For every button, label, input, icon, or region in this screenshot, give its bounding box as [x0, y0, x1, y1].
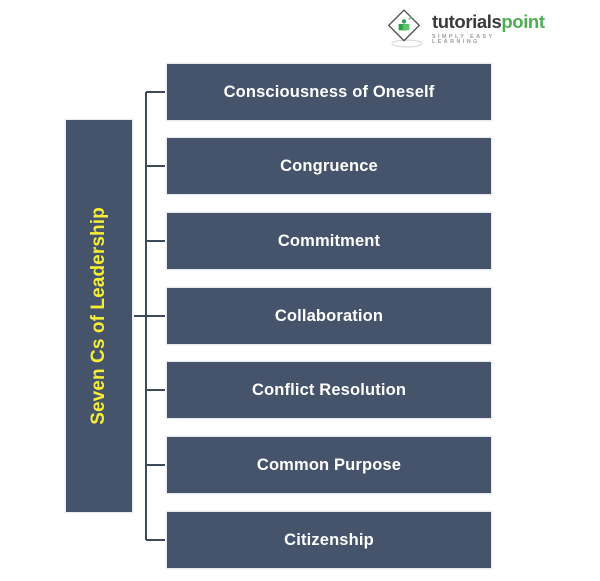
root-node-label: Seven Cs of Leadership	[88, 207, 110, 425]
diagram-canvas: tutorialspoint SIMPLY EASY LEARNING Seve…	[0, 0, 600, 581]
tutorialspoint-logo: tutorialspoint SIMPLY EASY LEARNING	[386, 8, 546, 50]
brand-tagline: SIMPLY EASY LEARNING	[432, 35, 546, 46]
node-label-7: Citizenship	[284, 531, 374, 550]
node-box-5[interactable]: Conflict Resolution	[166, 361, 492, 419]
brand-name-tutorials: tutorials	[432, 11, 501, 32]
node-box-1[interactable]: Consciousness of Oneself	[166, 63, 492, 121]
node-label-2: Congruence	[280, 157, 378, 176]
node-label-5: Conflict Resolution	[252, 381, 406, 400]
diamond-book-logo-icon	[386, 8, 428, 50]
node-box-7[interactable]: Citizenship	[166, 511, 492, 569]
root-node-seven-cs-of-leadership[interactable]: Seven Cs of Leadership	[65, 119, 133, 513]
node-label-1: Consciousness of Oneself	[224, 83, 435, 102]
node-box-6[interactable]: Common Purpose	[166, 436, 492, 494]
node-label-4: Collaboration	[275, 307, 383, 326]
brand-text: tutorialspoint SIMPLY EASY LEARNING	[432, 13, 546, 46]
node-box-4[interactable]: Collaboration	[166, 287, 492, 345]
node-label-6: Common Purpose	[257, 456, 401, 475]
node-label-3: Commitment	[278, 232, 380, 251]
brand-name-point: point	[501, 11, 544, 32]
node-box-3[interactable]: Commitment	[166, 212, 492, 270]
node-box-2[interactable]: Congruence	[166, 137, 492, 195]
